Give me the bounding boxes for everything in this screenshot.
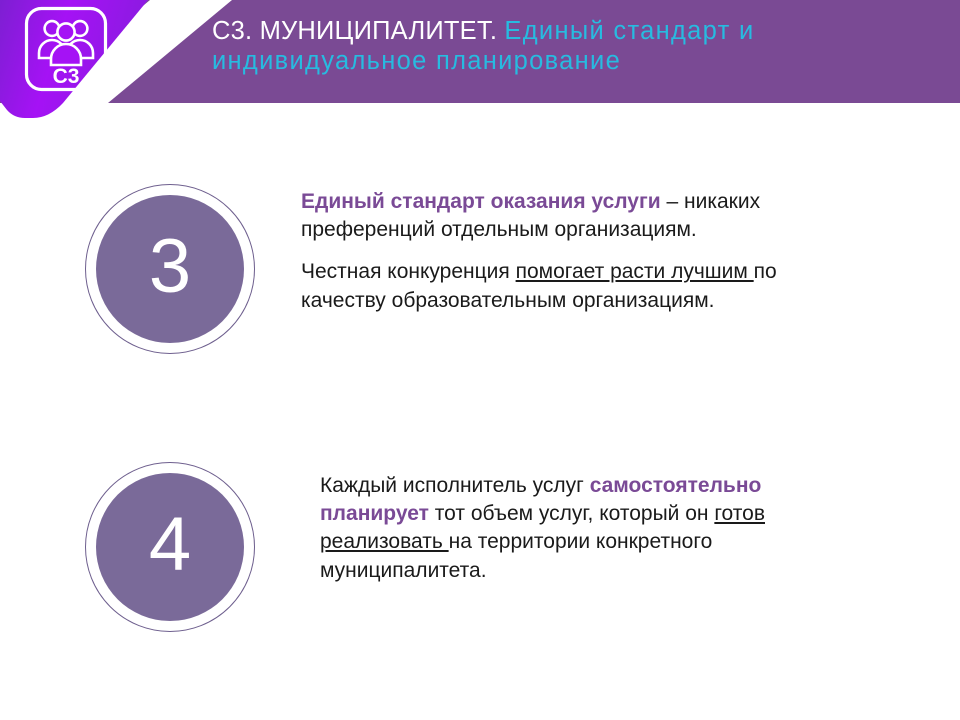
slide-title-white-part: С3. МУНИЦИПАЛИТЕТ. <box>212 17 497 45</box>
underlined-run: помогает расти лучшим <box>516 260 754 283</box>
slide-title-cyan-part-2: индивидуальное планирование <box>212 47 621 75</box>
paragraph: Честная конкуренция помогает расти лучши… <box>301 258 811 314</box>
slide-title-line-2: индивидуальное планирование <box>212 46 952 76</box>
text-block-item-3: Единый стандарт оказания услуги – никаки… <box>301 188 811 315</box>
number-circle-3-disc: 3 <box>96 195 244 343</box>
slide-title-line-1: С3. МУНИЦИПАЛИТЕТ. Единый стандарт и <box>212 16 952 46</box>
text-run: тот объем услуг, который он <box>429 502 714 525</box>
slide-canvas: С3 С3. МУНИЦИПАЛИТЕТ. Единый стандарт и … <box>0 0 960 720</box>
paragraph: Единый стандарт оказания услуги – никаки… <box>301 188 811 244</box>
number-circle-3-label: 3 <box>149 229 191 305</box>
slide-title-cyan-part-1: Единый стандарт и <box>504 17 754 45</box>
text-block-item-4: Каждый исполнитель услуг самостоятельно … <box>320 472 840 585</box>
number-circle-4-disc: 4 <box>96 473 244 621</box>
slide-title: С3. МУНИЦИПАЛИТЕТ. Единый стандарт и инд… <box>212 16 952 76</box>
text-run: Честная конкуренция <box>301 260 516 283</box>
accent-run: Единый стандарт оказания услуги <box>301 190 661 213</box>
logo-badge-icon: С3 <box>24 6 108 92</box>
paragraph: Каждый исполнитель услуг самостоятельно … <box>320 472 840 585</box>
people-group-icon <box>39 21 93 65</box>
logo-badge-label: С3 <box>53 65 80 88</box>
text-run: Каждый исполнитель услуг <box>320 474 590 497</box>
number-circle-3: 3 <box>85 184 255 354</box>
number-circle-4: 4 <box>85 462 255 632</box>
number-circle-4-label: 4 <box>149 507 191 583</box>
